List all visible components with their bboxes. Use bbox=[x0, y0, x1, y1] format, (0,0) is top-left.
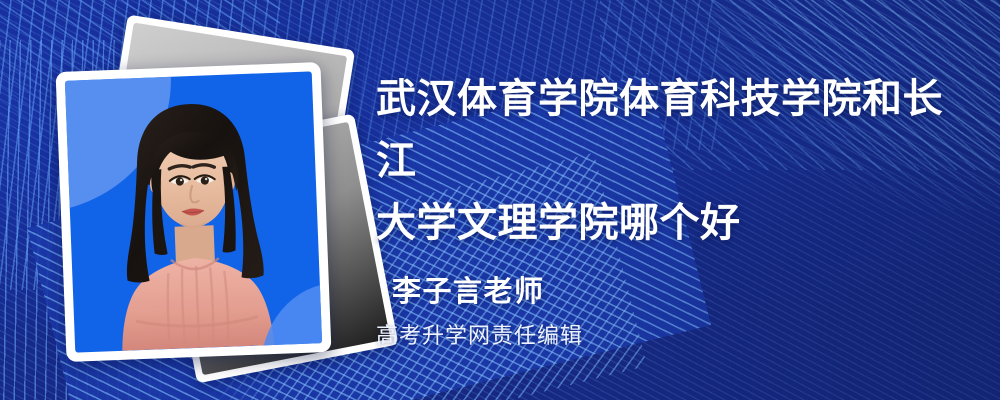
portrait-photo bbox=[65, 71, 322, 352]
article-title: 武汉体育学院体育科技学院和长江 大学文理学院哪个好 bbox=[376, 68, 966, 254]
article-header-banner: 武汉体育学院体育科技学院和长江 大学文理学院哪个好 李子言老师 高考升学网责任编… bbox=[0, 0, 1000, 400]
author-name: 李子言老师 bbox=[392, 268, 545, 310]
author-portrait-image bbox=[65, 71, 322, 352]
article-title-line-2: 大学文理学院哪个好 bbox=[376, 192, 966, 254]
photo-card-stack bbox=[55, 35, 355, 335]
article-title-line-1: 武汉体育学院体育科技学院和长江 bbox=[376, 68, 966, 192]
portrait-photo-frame bbox=[56, 62, 332, 362]
author-role: 高考升学网责任编辑 bbox=[376, 318, 583, 350]
